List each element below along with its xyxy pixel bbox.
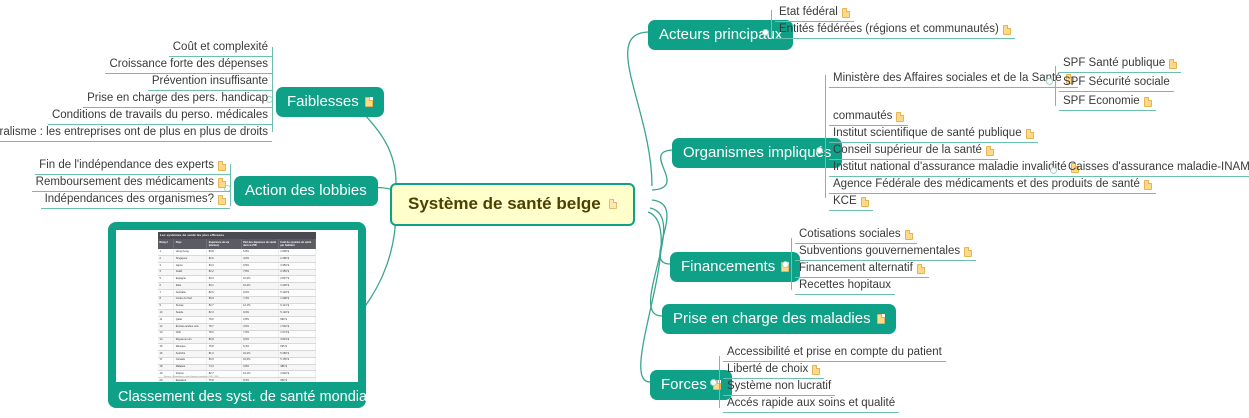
leaf-item[interactable]: Financement alternatif <box>795 262 929 278</box>
table-cell: 17 <box>158 357 174 364</box>
table-cell: 11 <box>158 317 174 324</box>
mindmap-canvas: Système de santé belge Faiblesses Coût e… <box>0 0 1249 418</box>
leaf-label: Recettes hopitaux <box>799 279 891 292</box>
table-cell: 4 <box>158 269 174 276</box>
table-row: 5Espagne83,310,4%2 827 $ <box>158 276 316 283</box>
table-cell: 352 $ <box>278 378 315 382</box>
table-row: 4Israël82,27,8%2 450 $ <box>158 269 316 276</box>
table-cell: 2,8% <box>241 317 278 324</box>
table-cell: 1 073 $ <box>278 330 315 337</box>
root-node[interactable]: Système de santé belge <box>390 183 635 226</box>
table-cell: 82,5 <box>207 290 241 297</box>
table-cell: 78,0 <box>207 317 241 324</box>
note-icon <box>365 97 373 107</box>
leaf-item[interactable]: Subventions gouvernementales <box>795 245 976 261</box>
note-icon <box>218 178 226 188</box>
table-header-row: Rang # Pays Espérance de vie (années) Pa… <box>158 239 316 249</box>
table-row: 6Italie83,110,4%3 400 $ <box>158 283 316 290</box>
table-row: 14Royaume-Uni80,89,6%3 824 $ <box>158 337 316 344</box>
table-cell: 82,2 <box>207 269 241 276</box>
table-row: 13Chili78,07,9%1 073 $ <box>158 330 316 337</box>
table-cell: 10,4% <box>241 276 278 283</box>
table-cell: 3 824 $ <box>278 337 315 344</box>
table-row: 17Canada80,910,6%5 155 $ <box>158 357 316 364</box>
leaf-label: Accessibilité et prise en compte du pati… <box>727 346 942 359</box>
table-cell: 3 350 $ <box>278 262 315 269</box>
table-cell: 1 540 $ <box>278 323 315 330</box>
table-cell: 3 400 $ <box>278 283 315 290</box>
collapse-toggle-forces[interactable] <box>710 379 717 386</box>
table-cell: Equateur <box>174 378 207 382</box>
table-cell: 82,3 <box>207 310 241 317</box>
table-row: 12Émirats arabes unis78,73,6%1 540 $ <box>158 323 316 330</box>
table-row: 7Australie82,59,6%5 100 $ <box>158 290 316 297</box>
table-cell: Espagne <box>174 276 207 283</box>
table-cell: Canada <box>174 357 207 364</box>
table-row: 2Singapour82,64,9%2 280 $ <box>158 256 316 263</box>
leaf-label: Libéralisme : les entreprises ont de plu… <box>0 126 268 139</box>
table-cell: 2 827 $ <box>278 276 315 283</box>
note-icon <box>917 264 925 274</box>
leaf-label: SPF Santé publique <box>1063 57 1165 70</box>
col-country: Pays <box>174 239 207 249</box>
table-cell: 83,3 <box>207 276 241 283</box>
leaf-label: Fin de l'indépendance des experts <box>39 159 214 172</box>
table-cell: 8 <box>158 296 174 303</box>
table-cell: Italie <box>174 283 207 290</box>
table-cell: Corée du Sud <box>174 296 207 303</box>
leaf-label: Cotisations sociales <box>799 228 901 241</box>
table-cell: 3,8% <box>241 364 278 371</box>
table-cell: 82,7 <box>207 303 241 310</box>
collapse-toggle-acteurs[interactable] <box>762 29 769 36</box>
branch-spine <box>272 47 273 132</box>
ranking-table-image: Les systèmes de santé les plus efficaces… <box>116 230 358 382</box>
leaf-label: Conditions de travails du perso. médical… <box>52 109 268 122</box>
leaf-item[interactable]: Coût et complexité <box>169 41 272 57</box>
leaf-item[interactable]: Système non lucratif <box>723 380 835 396</box>
table-cell: Malaisie <box>174 364 207 371</box>
table-cell: 5 <box>158 276 174 283</box>
table-cell: 5,4% <box>241 344 278 351</box>
table-cell: 16 <box>158 351 174 358</box>
leaf-item[interactable]: Fin de l'indépendance des experts <box>35 159 230 175</box>
leaf-label: Caisses d'assurance maladie-INAMI <box>1068 161 1249 174</box>
table-cell: 75,8 <box>207 378 241 382</box>
branch-spine <box>719 356 720 408</box>
table-cell: 80,8 <box>207 337 241 344</box>
leaf-item[interactable]: Libéralisme : les entreprises ont de plu… <box>0 126 272 142</box>
leaf-item[interactable]: Institut scientifique de santé publique <box>829 127 1038 143</box>
leaf-item[interactable]: Croissance forte des dépenses <box>105 58 272 74</box>
leaf-label: Prise en charge des pers. handicap <box>87 92 268 105</box>
leaf-item[interactable]: Remboursement des médicaments <box>32 176 230 192</box>
col-life-expectancy: Espérance de vie (années) <box>207 239 241 249</box>
note-icon <box>218 195 226 205</box>
table-cell: Suède <box>174 310 207 317</box>
branch-spine <box>771 10 772 38</box>
leaf-label: Conseil supérieur de la santé <box>833 144 982 157</box>
leaf-item[interactable]: Cotisations sociales <box>795 228 917 244</box>
table-cell: 9,6% <box>241 290 278 297</box>
note-icon <box>812 365 820 375</box>
table-cell: 10,4% <box>241 283 278 290</box>
table-cell: 9,9% <box>241 310 278 317</box>
table-cell: Singapour <box>174 256 207 263</box>
leaf-item[interactable]: KCE <box>829 195 873 211</box>
leaf-item[interactable]: Liberté de choix <box>723 363 824 379</box>
table-row: 10Suède82,39,9%5 120 $ <box>158 310 316 317</box>
leaf-label: Entités fédérées (régions et communautés… <box>779 23 999 36</box>
note-icon <box>1144 97 1152 107</box>
table-cell: 18 <box>158 364 174 371</box>
table-cell: 2 <box>158 256 174 263</box>
collapse-toggle-inami[interactable] <box>1050 167 1057 174</box>
leaf-label: Indépendances des organismes? <box>45 193 214 206</box>
table-cell: 2 280 $ <box>278 256 315 263</box>
leaf-item[interactable]: Prévention insuffisante <box>148 75 272 91</box>
table-row: 8Corée du Sud80,97,3%1 998 $ <box>158 296 316 303</box>
leaf-label: Accés rapide aux soins et qualité <box>727 397 895 410</box>
table-row: 3Japon83,39,5%3 350 $ <box>158 262 316 269</box>
table-cell: Émirats arabes unis <box>174 323 207 330</box>
note-icon <box>218 161 226 171</box>
table-cell: 15 <box>158 344 174 351</box>
leaf-item[interactable]: Etat fédéral <box>775 6 854 22</box>
table-cell: 12 <box>158 323 174 330</box>
col-gdp-share: Part des dépenses de santé dans le PIB <box>241 239 278 249</box>
table-cell: 2 450 $ <box>278 269 315 276</box>
table-cell: 5 100 $ <box>278 290 315 297</box>
leaf-label: Système non lucratif <box>727 380 831 393</box>
leaf-label: Coût et complexité <box>173 41 268 54</box>
table-cell: Qatar <box>174 317 207 324</box>
leaf-label: KCE <box>833 195 857 208</box>
note-icon <box>1003 25 1011 35</box>
table-cell: Japon <box>174 262 207 269</box>
leaf-item[interactable]: Institut national d'assurance maladie in… <box>829 161 1083 177</box>
leaf-item[interactable]: Accés rapide aux soins et qualité <box>723 397 899 413</box>
table-row: 15Mexique75,85,4%535 $ <box>158 344 316 351</box>
collapse-toggle-organismes[interactable] <box>816 147 823 154</box>
table-cell: 1 998 $ <box>278 296 315 303</box>
table-cell: 10 <box>158 310 174 317</box>
leaf-item[interactable]: SPF Santé publique <box>1059 57 1181 73</box>
leaf-label: Subventions gouvernementales <box>799 245 960 258</box>
leaf-label: Ministère des Affaires sociales et de la… <box>833 72 1062 85</box>
leaf-item[interactable]: Indépendances des organismes? <box>41 193 230 209</box>
leaf-label: Institut national d'assurance maladie in… <box>833 161 1067 174</box>
table-cell: 82,6 <box>207 256 241 263</box>
leaf-item[interactable]: SPF Sécurité sociale <box>1059 76 1174 92</box>
branch-spine <box>1055 66 1056 106</box>
table-cell: 13 <box>158 330 174 337</box>
leaf-label: commautés <box>833 110 892 123</box>
table-cell: Autriche <box>174 351 207 358</box>
leaf-item[interactable]: Recettes hopitaux <box>795 279 895 295</box>
leaf-label: Institut scientifique de santé publique <box>833 127 1022 140</box>
branch-spine <box>230 164 231 206</box>
leaf-label: Etat fédéral <box>779 6 838 19</box>
table-cell: 83,3 <box>207 262 241 269</box>
table-cell: 969 $ <box>278 317 315 324</box>
table-cell: 7,9% <box>241 330 278 337</box>
table-cell: 20 <box>158 378 174 382</box>
table-cell: 12,1% <box>241 303 278 310</box>
leaf-label: SPF Economie <box>1063 95 1140 108</box>
leaf-label: Financement alternatif <box>799 262 913 275</box>
leaf-label: Agence Fédérale des médicaments et des p… <box>833 178 1140 191</box>
branch-organismes-label: Organismes impliqués <box>683 145 831 160</box>
leaf-label: Croissance forte des dépenses <box>109 58 268 71</box>
ranking-table: Les systèmes de santé les plus efficaces… <box>158 232 316 382</box>
table-cell: 6 <box>158 283 174 290</box>
table-cell: 10,6% <box>241 357 278 364</box>
image-node-classement[interactable]: Les systèmes de santé les plus efficaces… <box>108 222 366 408</box>
table-cell: 4,9% <box>241 256 278 263</box>
table-cell: 535 $ <box>278 344 315 351</box>
table-cell: Chili <box>174 330 207 337</box>
table-cell: 75,8 <box>207 344 241 351</box>
table-cell: 9 <box>158 303 174 310</box>
leaf-item[interactable]: Agence Fédérale des médicaments et des p… <box>829 178 1156 194</box>
branch-financements-label: Financements <box>681 259 775 274</box>
note-icon <box>905 230 913 240</box>
leaf-label: Liberté de choix <box>727 363 808 376</box>
leaf-item[interactable]: Conseil supérieur de la santé <box>829 144 998 160</box>
leaf-item[interactable]: Entités fédérées (régions et communautés… <box>775 23 1015 39</box>
note-icon <box>964 247 972 257</box>
table-title: Les systèmes de santé les plus efficaces <box>158 232 316 239</box>
table-cell: 3 <box>158 262 174 269</box>
note-icon <box>896 112 904 122</box>
branch-faiblesses[interactable]: Faiblesses <box>276 87 384 117</box>
table-source: Source : Bloomberg, selon Banque mondial… <box>162 375 221 379</box>
table-row: 16Autriche81,010,2%5 280 $ <box>158 351 316 358</box>
note-icon <box>877 314 885 324</box>
collapse-toggle-ministere[interactable] <box>1046 78 1053 85</box>
branch-spine <box>791 238 792 290</box>
leaf-item[interactable]: Prise en charge des pers. handicap <box>83 92 272 108</box>
leaf-label: Prévention insuffisante <box>152 75 268 88</box>
collapse-toggle-financements[interactable] <box>782 261 789 268</box>
table-cell: 14 <box>158 337 174 344</box>
table-cell: 7 <box>158 290 174 297</box>
leaf-label: SPF Sécurité sociale <box>1063 76 1170 89</box>
table-row: 11Qatar78,02,8%969 $ <box>158 317 316 324</box>
note-icon <box>1144 180 1152 190</box>
note-icon <box>1169 59 1177 69</box>
branch-action-des-lobbies[interactable]: Action des lobbies <box>234 176 378 206</box>
table-row: 9Suisse82,712,1%9 121 $ <box>158 303 316 310</box>
table-cell: 80,9 <box>207 357 241 364</box>
table-cell: Australie <box>174 290 207 297</box>
branch-prise-en-charge-des-maladies[interactable]: Prise en charge des maladies <box>662 304 896 334</box>
table-cell: 9,6% <box>241 337 278 344</box>
table-cell: Mexique <box>174 344 207 351</box>
table-cell: 9,5% <box>241 262 278 269</box>
table-cell: 5 280 $ <box>278 351 315 358</box>
table-cell: 386 $ <box>278 364 315 371</box>
branch-financements[interactable]: Financements <box>670 252 800 282</box>
note-icon <box>609 199 617 209</box>
table-cell: 83,1 <box>207 283 241 290</box>
image-node-label: Classement des syst. de santé mondiaux <box>118 382 366 408</box>
root-label: Système de santé belge <box>408 194 601 214</box>
table-row: 20Equateur75,88,3%352 $ <box>158 378 316 382</box>
leaf-item[interactable]: Ministère des Affaires sociales et de la… <box>829 72 1078 88</box>
table-cell: 10,2% <box>241 351 278 358</box>
leaf-item[interactable]: Accessibilité et prise en compte du pati… <box>723 346 946 362</box>
branch-prise-en-charge-label: Prise en charge des maladies <box>673 311 871 326</box>
col-cost-per-capita: Coût du système de santé par habitant <box>278 239 315 249</box>
branch-spine <box>825 75 826 198</box>
branch-faiblesses-label: Faiblesses <box>287 94 359 109</box>
table-cell: 8,3% <box>241 378 278 382</box>
note-icon <box>986 146 994 156</box>
table-cell: 3,6% <box>241 323 278 330</box>
table-cell: 80,9 <box>207 296 241 303</box>
branch-lobbies-label: Action des lobbies <box>245 183 367 198</box>
leaf-item[interactable]: commautés <box>829 110 908 126</box>
table-cell: Israël <box>174 269 207 276</box>
table-row: 18Malaisie74,33,8%386 $ <box>158 364 316 371</box>
table-cell: 4 902 $ <box>278 371 315 378</box>
table-body: 1Hong Kong83,85,8%1 838 $2Singapour82,64… <box>158 249 316 382</box>
leaf-item[interactable]: Conditions de travails du perso. médical… <box>48 109 272 125</box>
bubble-tail <box>336 360 358 382</box>
table-cell: 81,0 <box>207 351 241 358</box>
table-cell: 7,8% <box>241 269 278 276</box>
table-cell: 7,3% <box>241 296 278 303</box>
table-cell: Suisse <box>174 303 207 310</box>
table-cell: Royaume-Uni <box>174 337 207 344</box>
col-rank: Rang # <box>158 239 174 249</box>
leaf-item[interactable]: SPF Economie <box>1059 95 1156 111</box>
table-cell: 12,1% <box>241 371 278 378</box>
note-icon <box>1026 129 1034 139</box>
leaf-label: Remboursement des médicaments <box>36 176 214 189</box>
note-icon <box>861 197 869 207</box>
table-cell: 5 155 $ <box>278 357 315 364</box>
note-icon <box>842 8 850 18</box>
table-cell: 9 121 $ <box>278 303 315 310</box>
image-node-caption: Classement des syst. de santé mondiaux <box>116 382 358 408</box>
leaf-item[interactable]: Caisses d'assurance maladie-INAMI <box>1064 161 1249 177</box>
table-cell: 5 120 $ <box>278 310 315 317</box>
table-cell: 78,0 <box>207 330 241 337</box>
table-cell: 74,3 <box>207 364 241 371</box>
branch-forces-label: Forces <box>661 377 707 392</box>
table-cell: 78,7 <box>207 323 241 330</box>
